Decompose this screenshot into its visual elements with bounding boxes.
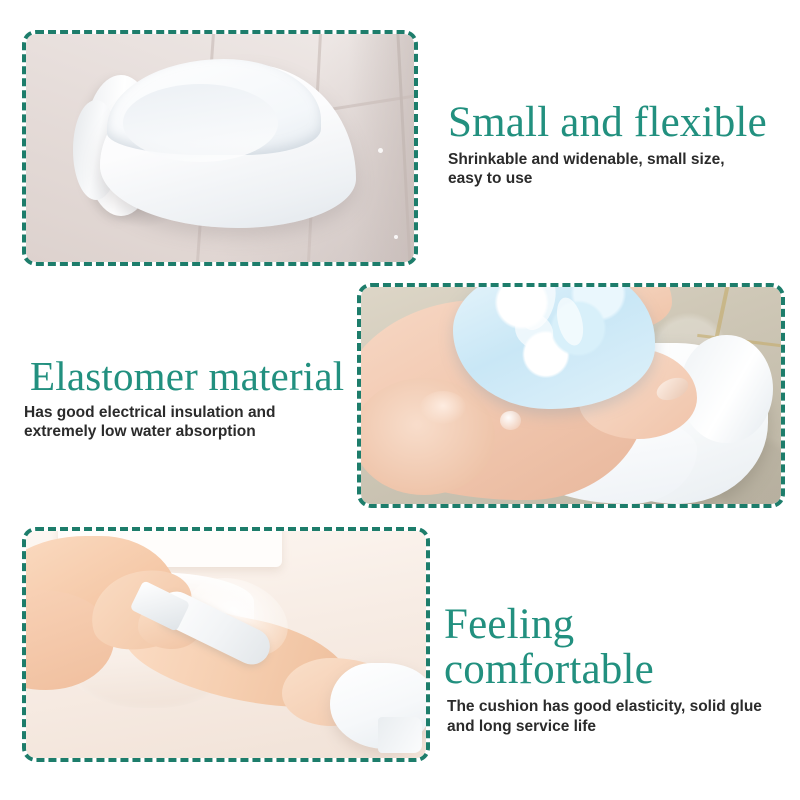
feature-title: Small and flexible <box>448 100 793 145</box>
suction-cup <box>378 717 422 753</box>
feature-text-feeling-comfortable: Feeling comfortable The cushion has good… <box>444 602 794 736</box>
photo-scene-wall-mounted-step <box>26 34 414 262</box>
water-speck <box>378 148 383 153</box>
toenail <box>653 373 691 404</box>
step-hollow <box>123 84 278 162</box>
feature-text-small-and-flexible: Small and flexible Shrinkable and widena… <box>448 100 793 189</box>
photo-scene-foot-washing <box>361 287 781 504</box>
soap-bubble <box>500 411 521 431</box>
feature-text-elastomer-material: Elastomer material Has good electrical i… <box>24 355 354 441</box>
feature-description: Has good electrical insulation and extre… <box>24 403 354 441</box>
feature-description: The cushion has good elasticity, solid g… <box>447 697 794 735</box>
feature-photo-feeling-comfortable <box>22 527 430 762</box>
product-infographic: Small and flexible Shrinkable and widena… <box>0 0 800 800</box>
feature-photo-elastomer-material <box>357 283 785 508</box>
loofah-fold <box>508 305 561 356</box>
feature-description: Shrinkable and widenable, small size, ea… <box>448 150 793 188</box>
photo-scene-leg-shaving <box>26 531 426 758</box>
feature-title: Elastomer material <box>30 355 354 398</box>
ankle-highlight <box>420 391 466 424</box>
feature-photo-small-and-flexible <box>22 30 418 266</box>
feature-title: Feeling comfortable <box>444 602 794 692</box>
loofah-fold <box>553 295 588 348</box>
